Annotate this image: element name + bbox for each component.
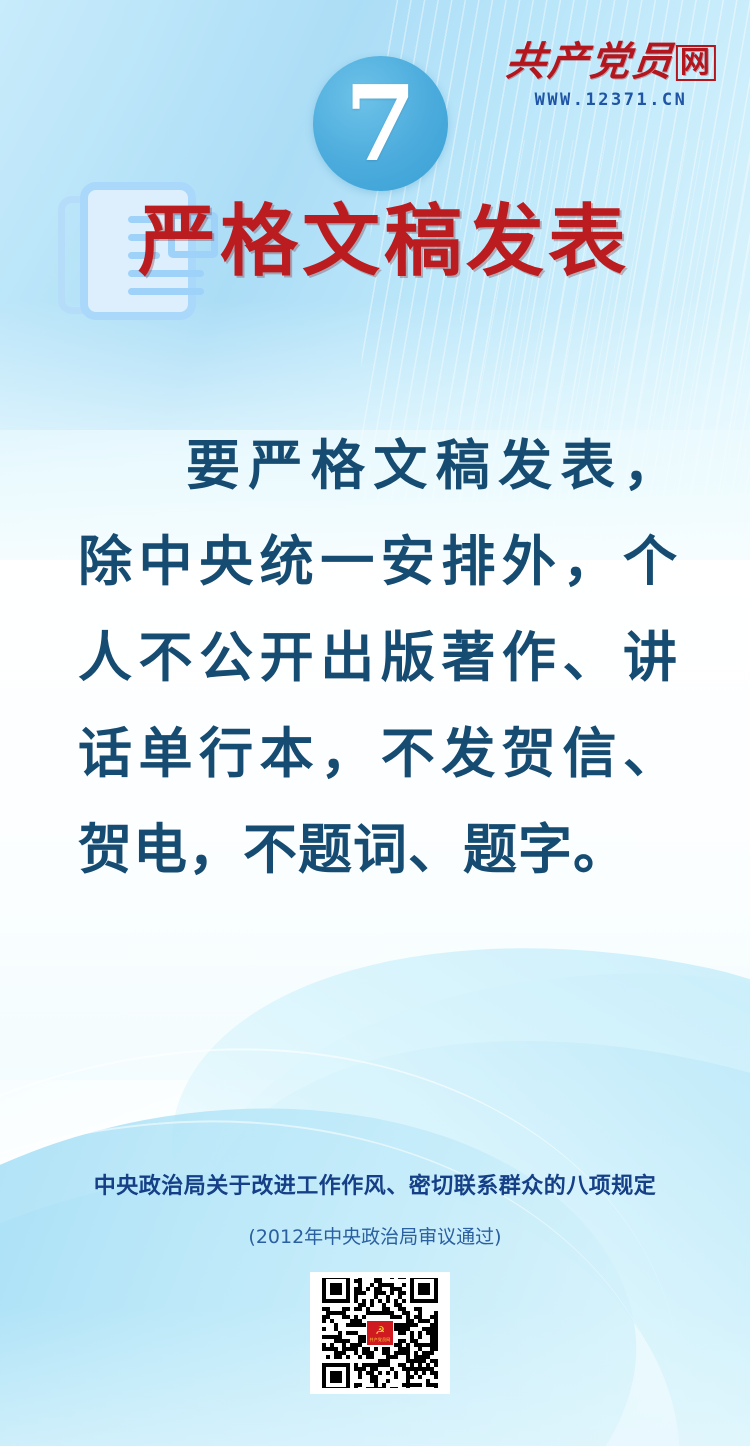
brand-logo-wordmark: 共产党员网 [494,42,728,82]
poster-canvas: 共产党员网 WWW.12371.CN 7 严格文稿发表 要严格文稿发表，除中央统… [0,0,750,1446]
rule-number: 7 [313,56,448,191]
footer-regulation-subtitle: (2012年中央政治局审议通过) [0,1222,750,1249]
brand-website-url: WWW.12371.CN [496,90,726,110]
rule-body-text: 要严格文稿发表，除中央统一安排外，个人不公开出版著作、讲话单行本，不发贺信、贺电… [78,418,678,898]
hammer-sickle-icon: ☭ [373,1325,388,1337]
wave-shape-right-upper [183,933,750,1328]
brand-logo-name: 共产党员 [504,38,677,85]
brand-logo: 共产党员网 WWW.12371.CN [496,42,726,110]
qr-code[interactable]: ☭ 共产党员网 [310,1272,450,1394]
page-title: 严格文稿发表 [138,200,630,286]
brand-logo-net-char: 网 [676,45,716,81]
party-emblem-icon: ☭ 共产党员网 [366,1320,394,1346]
qr-logo-label: 共产党员网 [370,1337,391,1342]
footer: 中央政治局关于改进工作作风、密切联系群众的八项规定 (2012年中央政治局审议通… [0,1168,750,1249]
qr-code-matrix[interactable]: ☭ 共产党员网 [318,1278,442,1388]
rule-number-badge: 7 [313,56,448,191]
document-icon-text-line [128,288,204,295]
footer-regulation-title: 中央政治局关于改进工作作风、密切联系群众的八项规定 [0,1168,750,1200]
